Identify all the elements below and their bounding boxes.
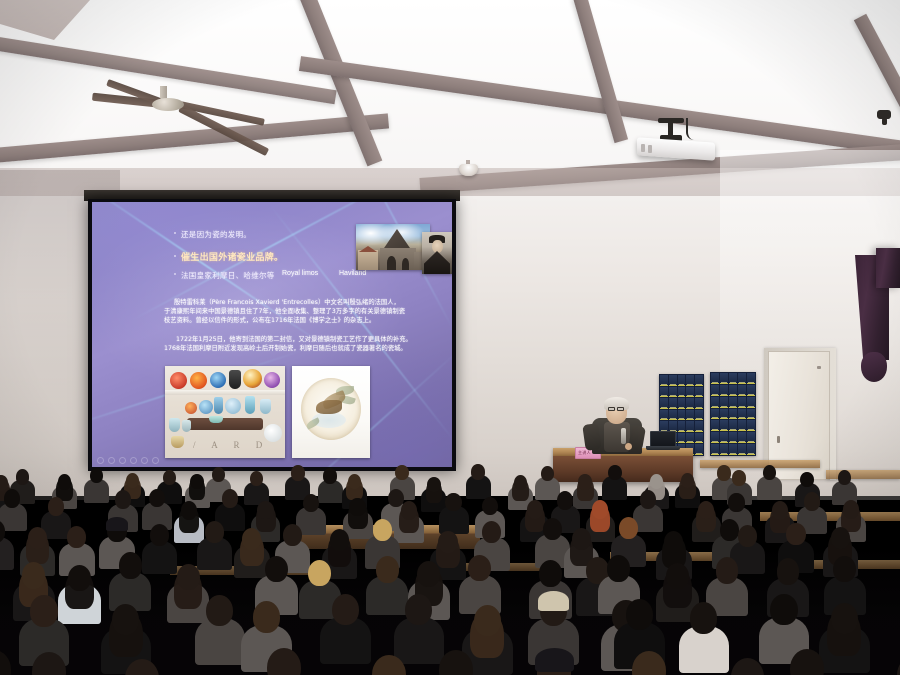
audience-head xyxy=(728,493,744,512)
audience-head xyxy=(619,517,638,539)
audience-head xyxy=(265,556,288,582)
audience-head xyxy=(572,528,591,550)
audience-head xyxy=(539,560,562,586)
audience-head xyxy=(445,493,461,512)
slideshow-toolbar[interactable] xyxy=(97,457,159,464)
audience-head xyxy=(608,465,622,481)
audience-head xyxy=(720,519,739,541)
curtain-top xyxy=(876,248,900,288)
microphone[interactable] xyxy=(621,428,626,444)
slide-image-plate xyxy=(292,366,370,458)
audience-head xyxy=(395,465,409,481)
bullet-dot-icon xyxy=(174,273,176,275)
audience-head xyxy=(786,523,805,545)
slide-image-church xyxy=(356,224,430,270)
audience-head xyxy=(112,604,139,636)
audience-cap xyxy=(538,591,570,611)
audience-head xyxy=(291,465,305,481)
audience-head xyxy=(732,470,746,486)
audience-head xyxy=(514,475,528,491)
audience-head xyxy=(482,497,498,516)
audience-head xyxy=(527,500,543,519)
pen-icon[interactable] xyxy=(108,457,115,464)
projection-screen: 还是因为瓷的发明。 催生出国外诸瓷业品牌。 法国皇家利摩日、哈维尔等 Royal… xyxy=(88,199,456,471)
audience-head xyxy=(417,561,440,587)
audience-head xyxy=(4,489,20,508)
audience-head xyxy=(28,527,47,549)
audience-head xyxy=(664,531,683,553)
audience-head xyxy=(666,563,689,589)
audience-head xyxy=(90,468,104,484)
audience-head xyxy=(150,524,169,546)
bullet-dot-icon xyxy=(174,255,176,257)
audience-cap xyxy=(535,648,574,672)
audience-head xyxy=(349,498,365,517)
zoom-icon[interactable] xyxy=(141,457,148,464)
audience-head xyxy=(323,468,337,484)
audience-head xyxy=(332,594,359,626)
slide-image-shelf: / A R D xyxy=(165,366,285,458)
audience-head xyxy=(303,494,319,513)
audience-head xyxy=(578,474,592,490)
audience-head xyxy=(58,474,72,490)
audience-head xyxy=(897,656,900,675)
audience-head xyxy=(48,497,64,516)
audience-head xyxy=(626,599,653,631)
slide-image-portrait xyxy=(422,232,452,274)
audience-head xyxy=(468,555,491,581)
audience-head xyxy=(541,466,555,482)
audience-head xyxy=(330,529,349,551)
slide-paragraph-1-line-1: 殷特雷科莱（Père Francois Xavierd 'Entrecolles… xyxy=(174,298,400,307)
audience-head xyxy=(376,556,399,582)
audience-head xyxy=(68,565,91,591)
slide-paragraph-1-line-2: 于清康熙年间来中国景德镇且住了7年，他全面收集、整理了3万多字的有关景德镇制瓷 xyxy=(164,307,405,316)
shelf-letters: / A R D xyxy=(193,440,269,450)
audience-head xyxy=(401,501,417,520)
audience-cap xyxy=(106,517,128,531)
audience-head xyxy=(543,518,562,540)
audience-head xyxy=(253,601,280,633)
audience-head xyxy=(267,648,301,675)
audience-head xyxy=(777,558,800,584)
audience-head xyxy=(22,562,45,588)
label-haviland: Haviland xyxy=(339,270,366,277)
slide-bullet-1: 还是因为瓷的发明。 xyxy=(174,229,251,240)
audience-head xyxy=(474,605,501,637)
slide-bullet-2-text: 催生出国外诸瓷业品牌。 xyxy=(181,250,283,263)
audience-head xyxy=(177,564,200,590)
audience-head xyxy=(0,475,8,491)
audience-head xyxy=(308,560,331,586)
audience-head xyxy=(438,531,457,553)
audience-head xyxy=(690,602,717,634)
audience-head xyxy=(471,464,485,480)
curtain-knot xyxy=(861,352,887,382)
audience-head xyxy=(30,595,57,627)
audience-head xyxy=(0,650,11,675)
slide-bullet-3-text: 法国皇家利摩日、哈维尔等 xyxy=(181,270,275,281)
audience-head xyxy=(800,472,814,488)
placard-text: 主讲人 xyxy=(578,450,591,456)
audience-head xyxy=(831,603,858,635)
audience-head xyxy=(717,465,731,481)
audience-head xyxy=(126,473,140,489)
audience-head xyxy=(650,474,664,490)
audience-head xyxy=(283,524,302,546)
audience-shoulders xyxy=(0,537,14,570)
laptop-screen xyxy=(650,431,676,447)
pointer-icon[interactable] xyxy=(119,457,126,464)
audience-head xyxy=(482,521,501,543)
menu-icon[interactable] xyxy=(130,457,137,464)
audience-head xyxy=(257,501,273,520)
audience-head xyxy=(838,470,852,486)
audience-head xyxy=(250,471,264,487)
audience-head xyxy=(772,501,788,520)
slide-paragraph-2-line-1: 1722年1月25日，他寄到法国的第二封信，又对景德镇制瓷工艺作了更具体的补充。 xyxy=(176,335,412,344)
lecture-hall-photo: 还是因为瓷的发明。 催生出国外诸瓷业品牌。 法国皇家利摩日、哈维尔等 Royal… xyxy=(0,0,900,675)
audience-head xyxy=(119,552,142,578)
slide-paragraph-2-line-2: 1768年法国利摩日附近发现高岭土后开制始瓷，利摩日随后也就成了瓷器著名的瓷城。 xyxy=(164,344,407,353)
next-icon[interactable] xyxy=(152,457,159,464)
audience-head xyxy=(149,489,165,508)
audience-head xyxy=(205,521,224,543)
audience-head xyxy=(181,501,197,520)
audience-head xyxy=(804,492,820,511)
prev-icon[interactable] xyxy=(97,457,104,464)
audience-head xyxy=(557,491,573,510)
audience-head xyxy=(770,594,797,626)
audience-head xyxy=(716,557,739,583)
audience-head xyxy=(843,500,859,519)
audience-head xyxy=(115,490,131,509)
audience-head xyxy=(607,555,630,581)
slide-bullet-3: 法国皇家利摩日、哈维尔等 xyxy=(174,270,275,281)
audience-head xyxy=(427,477,441,493)
audience-head xyxy=(373,519,392,541)
presentation-slide: 还是因为瓷的发明。 催生出国外诸瓷业品牌。 法国皇家利摩日、哈维尔等 Royal… xyxy=(92,202,452,467)
slide-paragraph-1-line-3: 枝艺资料。曾经以信件的形式，公布在1716年法国《博学之士》的杂志上。 xyxy=(164,316,375,325)
audience-head xyxy=(833,556,856,582)
audience-head xyxy=(190,474,204,490)
audience-head xyxy=(640,490,656,509)
audience-head xyxy=(163,470,177,486)
label-royal-limos: Royal limos xyxy=(282,270,318,277)
slide-bullet-2: 催生出国外诸瓷业品牌。 xyxy=(174,250,283,263)
phone-pocket-board-right xyxy=(710,372,756,456)
laptop-base[interactable] xyxy=(646,446,680,450)
audience-head xyxy=(592,500,608,519)
audience-head xyxy=(16,469,30,485)
slide-bullet-1-text: 还是因为瓷的发明。 xyxy=(181,229,251,240)
audience-head xyxy=(222,489,238,508)
audience-head xyxy=(738,525,757,547)
bullet-dot-icon xyxy=(174,232,176,234)
audience-head xyxy=(206,595,233,627)
audience-head xyxy=(405,594,432,626)
audience-head xyxy=(831,527,850,549)
